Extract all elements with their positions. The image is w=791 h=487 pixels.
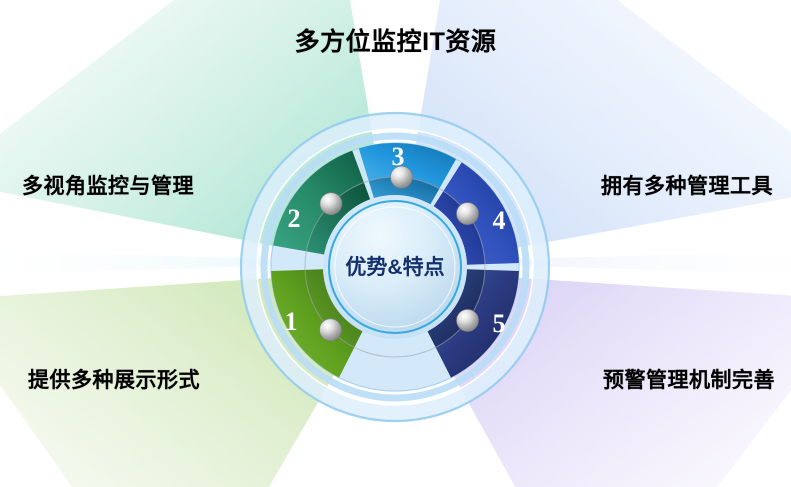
label-right-bottom: 预警管理机制完善 bbox=[603, 364, 775, 394]
bead-1 bbox=[320, 319, 342, 341]
bead-2 bbox=[320, 193, 342, 215]
radial-wheel: 优势&特点 1 2 3 4 5 bbox=[0, 0, 791, 487]
label-right-top: 拥有多种管理工具 bbox=[601, 170, 773, 200]
infographic-canvas: 优势&特点 1 2 3 4 5 多方位监控IT资源 bbox=[0, 0, 791, 487]
title-top: 多方位监控IT资源 bbox=[295, 22, 497, 58]
segment-number-3: 3 bbox=[392, 142, 405, 171]
bead-5 bbox=[457, 309, 479, 331]
segment-number-4: 4 bbox=[493, 206, 506, 235]
label-left-bottom: 提供多种展示形式 bbox=[28, 364, 200, 394]
segment-number-1: 1 bbox=[285, 307, 298, 336]
center-label: 优势&特点 bbox=[345, 255, 444, 279]
label-left-top: 多视角监控与管理 bbox=[22, 170, 194, 200]
segment-number-5: 5 bbox=[493, 309, 506, 338]
bead-4 bbox=[457, 203, 479, 225]
segment-number-2: 2 bbox=[288, 204, 301, 233]
